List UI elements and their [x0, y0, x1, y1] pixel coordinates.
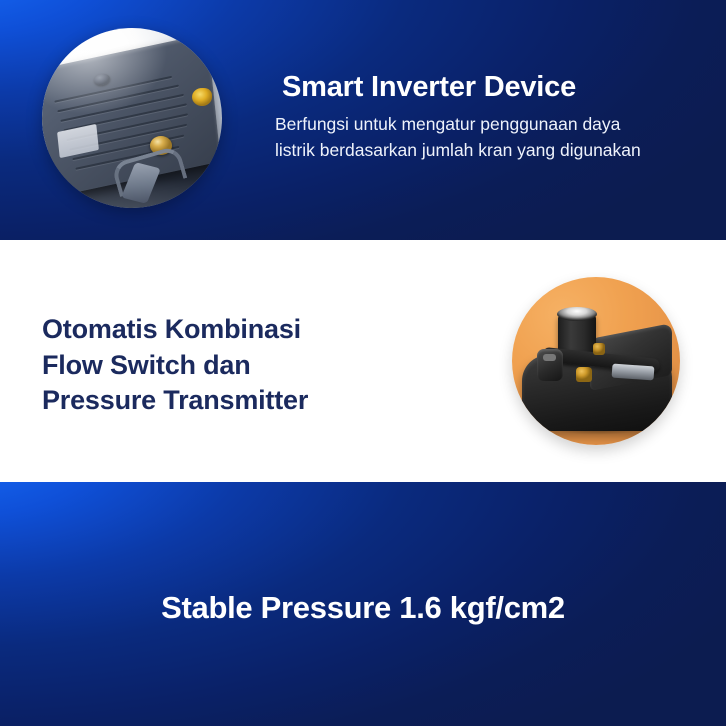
flow-switch-heading-line-3: Pressure Transmitter [42, 383, 308, 419]
smart-inverter-description-line-1: Berfungsi untuk mengatur penggunaan daya [275, 112, 705, 138]
flow-switch-module [537, 349, 563, 381]
smart-inverter-heading: Smart Inverter Device [282, 72, 576, 102]
pump-brass-fitting-front [576, 367, 592, 382]
pump-brass-fitting-rear [593, 343, 605, 355]
inverter-yellow-part [192, 88, 212, 106]
smart-inverter-description: Berfungsi untuk mengatur penggunaan daya… [275, 112, 705, 164]
flow-switch-heading-line-1: Otomatis Kombinasi [42, 312, 308, 348]
smart-inverter-description-line-2: listrik berdasarkan jumlah kran yang dig… [275, 138, 705, 164]
flow-switch-heading-line-2: Flow Switch dan [42, 348, 308, 384]
pressure-transmitter-cap [557, 307, 597, 321]
stable-pressure-heading: Stable Pressure 1.6 kgf/cm2 [0, 590, 726, 626]
smart-inverter-device-image [42, 28, 222, 208]
flow-switch-pressure-transmitter-image [512, 277, 680, 445]
flow-switch-heading: Otomatis Kombinasi Flow Switch dan Press… [42, 312, 308, 419]
product-feature-infographic: Smart Inverter Device Berfungsi untuk me… [0, 0, 726, 726]
pump-outlet-pipe [612, 364, 655, 381]
